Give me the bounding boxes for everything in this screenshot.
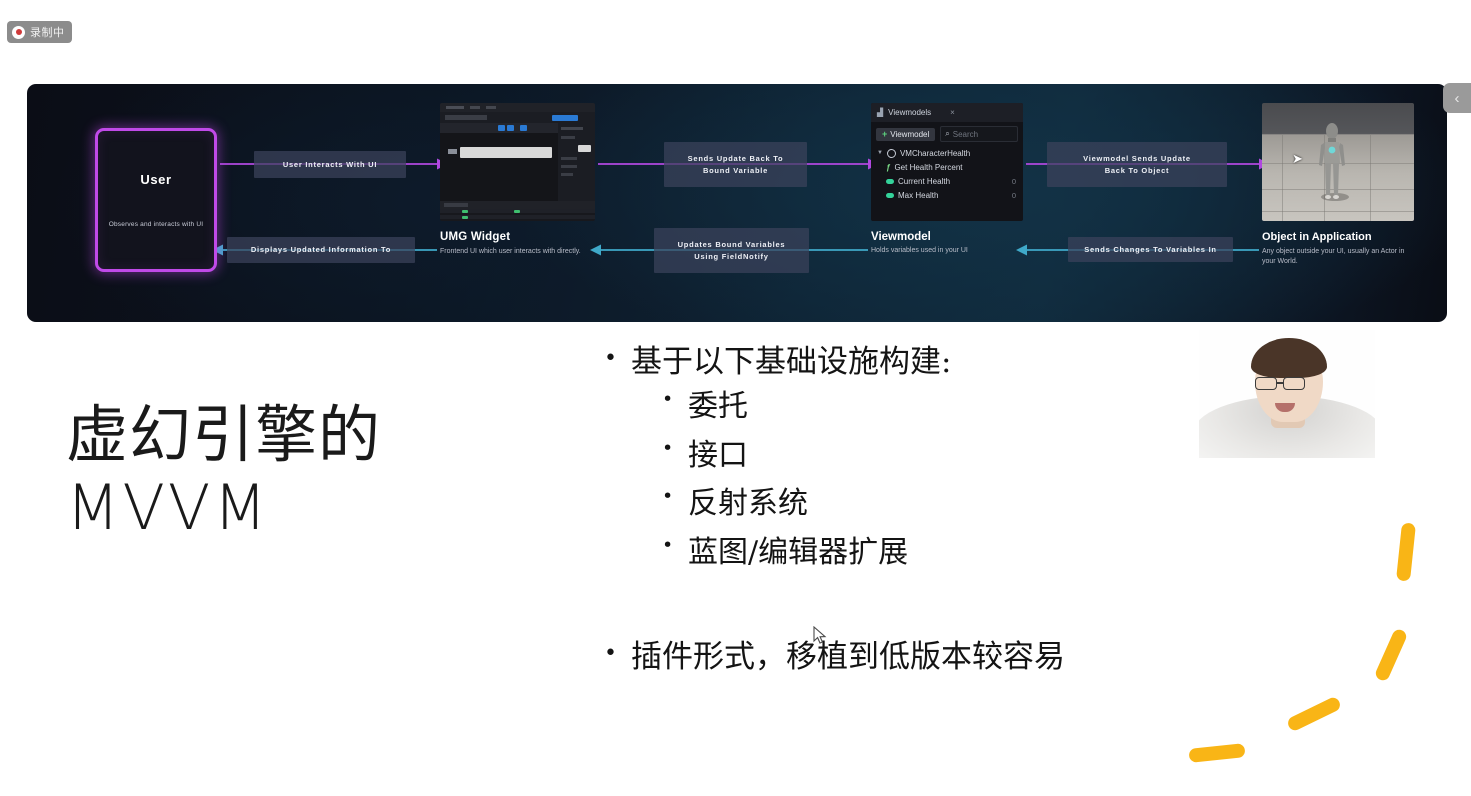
viewmodel-tree-item[interactable]: Current Health 0 [880,174,1023,188]
recording-label: 录制中 [30,24,65,40]
viewmodel-tab-icon: ▟ [877,108,883,117]
object-viewport-screenshot: ➤ [1262,103,1414,221]
bullet-main: • 基于以下基础设施构建: [604,342,1204,383]
bullet-dot-icon: • [662,432,688,481]
glasses-right-lens-icon [1283,377,1305,390]
add-viewmodel-label: Viewmodel [890,130,929,139]
glasses-left-lens-icon [1255,377,1277,390]
add-viewmodel-button[interactable]: + Viewmodel [876,128,935,141]
plus-icon: + [882,130,887,139]
viewmodels-tab-label[interactable]: Viewmodels [888,108,931,117]
bullet-dot-icon: • [662,480,688,529]
node-viewmodel-subtitle: Holds variables used in your UI [871,247,1023,254]
recording-badge[interactable]: 录制中 [7,21,72,43]
record-dot-icon [12,26,25,39]
umg-editor-screenshot [440,103,595,221]
tree-item-value: 0 [1012,177,1016,186]
class-icon [887,149,896,158]
bullet-main-label: 基于以下基础设施构建: [631,342,951,383]
viewmodel-search-input[interactable]: ⌕ Search [940,126,1018,142]
node-object-subtitle: Any object outside your UI, usually an A… [1262,247,1412,267]
search-placeholder: Search [953,130,978,139]
diagram-node-object[interactable]: ➤ Object in Application Any object outsi… [1262,103,1414,288]
bullet-dot-icon: • [662,529,688,578]
chevron-down-icon[interactable]: ▼ [877,150,883,156]
node-umg-subtitle: Frontend UI which user interacts with di… [440,247,590,257]
bullet-dot-icon: • [662,383,688,432]
mouse-cursor-icon [812,626,828,646]
mannequin-figure [1315,123,1349,205]
decor-arc-1 [1396,522,1416,581]
mouse-cursor-icon: ➤ [1292,151,1303,167]
diagram-node-user[interactable]: User Observes and interacts with UI [95,128,217,272]
bullet-sub-label: 接口 [688,432,748,481]
bullet-last: • 插件形式，移植到低版本较容易 [604,637,1204,678]
edge-label-displays-updated-info: Displays Updated Information To [227,237,415,263]
bullet-dot-icon: • [604,637,631,678]
diagram-node-viewmodel[interactable]: ▟ Viewmodels × + Viewmodel ⌕ Search ▼ [871,103,1023,283]
webcam-overlay [1199,330,1375,458]
bullet-sub: • 接口 [662,432,1204,481]
bullet-sub-label: 反射系统 [688,480,808,529]
decor-arc-4 [1188,743,1245,763]
decor-arc-3 [1286,695,1342,732]
tree-item-label: Get Health Percent [894,163,962,172]
tree-item-label: Current Health [898,177,950,186]
mvvm-diagram-panel: User Observes and interacts with UI [27,84,1447,322]
viewmodel-tree-item[interactable]: Max Health 0 [880,188,1023,202]
chevron-left-icon: ‹ [1455,91,1460,106]
diagram-arrows [27,84,1447,322]
slide-canvas: 录制中 User Observes and in [0,0,1471,796]
variable-icon [886,193,894,198]
viewmodel-tree-item[interactable]: ƒ Get Health Percent [880,160,1023,174]
search-icon: ⌕ [945,129,949,139]
edge-label-updates-bound-variables: Updates Bound Variables Using FieldNotif… [654,228,809,273]
collapse-panel-button[interactable]: ‹ [1443,83,1471,113]
node-user-title: User [140,172,171,187]
bullet-dot-icon: • [604,342,631,383]
edge-label-sends-changes: Sends Changes To Variables In [1068,237,1233,262]
viewmodels-toolbar: + Viewmodel ⌕ Search [871,122,1023,146]
viewmodels-panel[interactable]: ▟ Viewmodels × + Viewmodel ⌕ Search ▼ [871,103,1023,221]
page-title: 虚幻引擎的 MVVM [66,398,496,544]
edge-label-sends-update-back: Sends Update Back To Bound Variable [664,142,807,187]
bullet-sub-label: 委托 [688,383,748,432]
node-viewmodel-title: Viewmodel [871,231,1023,243]
bullet-sub: • 蓝图/编辑器扩展 [662,529,1204,578]
node-object-title: Object in Application [1262,231,1414,243]
bullet-last-label: 插件形式，移植到低版本较容易 [631,637,1065,678]
viewmodels-tabbar: ▟ Viewmodels × [871,103,1023,122]
function-icon: ƒ [886,163,890,172]
title-line-1: 虚幻引擎的 [66,398,381,471]
bullet-sub: • 委托 [662,383,1204,432]
tree-item-label: Max Health [898,191,938,200]
viewmodel-tree-item[interactable]: ▼ VMCharacterHealth [871,146,1023,160]
node-user-subtitle: Observes and interacts with UI [103,221,210,228]
title-line-2: MVVM [66,471,496,544]
diagram-node-umg-widget[interactable]: UMG Widget Frontend UI which user intera… [440,103,595,303]
bullet-sub: • 反射系统 [662,480,1204,529]
glasses-bridge [1277,382,1283,384]
variable-icon [886,179,894,184]
edge-label-viewmodel-sends-update: Viewmodel Sends Update Back To Object [1047,142,1227,187]
close-icon[interactable]: × [950,108,955,117]
tree-item-label: VMCharacterHealth [900,149,970,158]
decor-arc-2 [1374,627,1409,682]
bullet-sub-label: 蓝图/编辑器扩展 [688,529,908,578]
edge-label-user-interacts: User Interacts With UI [254,151,406,178]
bullet-list: • 基于以下基础设施构建: • 委托 • 接口 • 反射系统 • 蓝图/编辑器扩… [604,342,1204,678]
tree-item-value: 0 [1012,191,1016,200]
node-umg-title: UMG Widget [440,231,595,243]
